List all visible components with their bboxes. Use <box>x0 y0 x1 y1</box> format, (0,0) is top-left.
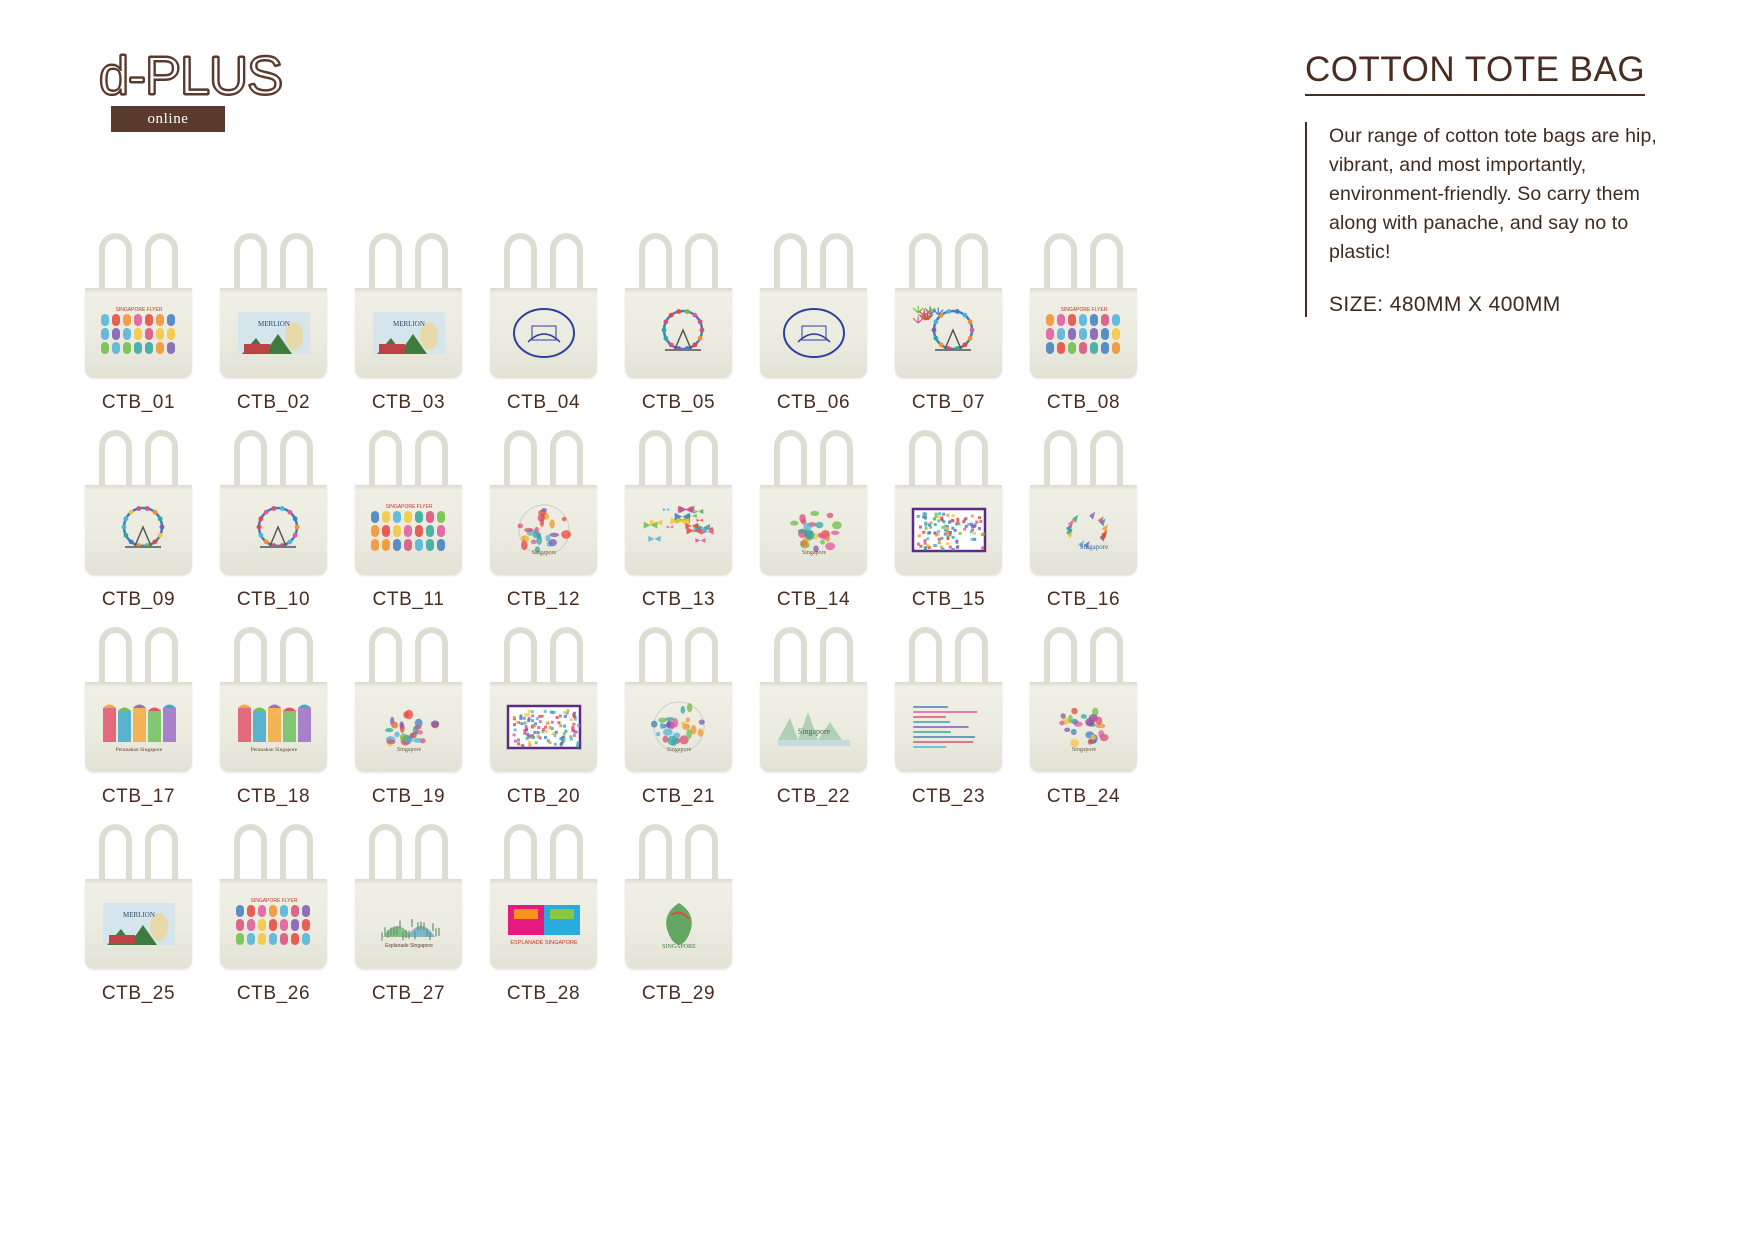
bag-body: Peranakan Singapore <box>85 682 192 772</box>
bag-body: SINGAPORE <box>625 879 732 969</box>
bag-handle-left <box>99 824 132 886</box>
bag-print-blue-oval-outline-landmark <box>772 304 856 362</box>
bag-print-peranakan-windows-trio: Peranakan Singapore <box>97 698 181 756</box>
size-spec: SIZE: 480MM X 400MM <box>1329 293 1705 317</box>
tote-bag-image[interactable] <box>882 228 1015 383</box>
product-card-ctb_12[interactable]: SingaporeCTB_12 <box>477 425 610 611</box>
bag-handle-right <box>415 824 448 886</box>
svg-text:Singapore: Singapore <box>1079 543 1107 551</box>
product-card-ctb_21[interactable]: SingaporeCTB_21 <box>612 622 745 808</box>
product-code-label: CTB_15 <box>912 589 985 611</box>
product-card-ctb_15[interactable]: CTB_15 <box>882 425 1015 611</box>
svg-text:Singapore: Singapore <box>666 747 691 753</box>
product-code-label: CTB_29 <box>642 983 715 1005</box>
svg-text:SINGAPORE FLYER: SINGAPORE FLYER <box>250 898 297 904</box>
product-card-ctb_04[interactable]: CTB_04 <box>477 228 610 414</box>
tote-bag-image[interactable]: Peranakan Singapore <box>207 622 340 777</box>
product-card-ctb_28[interactable]: ESPLANADE SINGAPORECTB_28 <box>477 819 610 1005</box>
tote-bag-image[interactable]: SINGAPORE FLYER <box>1017 228 1150 383</box>
product-row: SINGAPORE FLYERCTB_01MERLIONCTB_02MERLIO… <box>72 228 1232 414</box>
bag-body <box>760 288 867 378</box>
bag-handle-left <box>369 824 402 886</box>
tote-bag-image[interactable] <box>882 425 1015 580</box>
svg-text:Peranakan Singapore: Peranakan Singapore <box>115 747 162 753</box>
bag-print-esplanade-singapore-figure-grid: SINGAPORE FLYER <box>232 895 316 953</box>
product-code-label: CTB_22 <box>777 786 850 808</box>
bag-handle-left <box>774 627 807 689</box>
bag-print-singapore-flyer-icon-grid: SINGAPORE FLYER <box>1042 304 1126 362</box>
product-card-ctb_07[interactable]: CTB_07 <box>882 228 1015 414</box>
bag-body <box>220 485 327 575</box>
product-code-label: CTB_04 <box>507 392 580 414</box>
tote-bag-image[interactable]: Singapore <box>612 622 745 777</box>
svg-text:Singapore: Singapore <box>531 550 556 556</box>
bag-print-handwritten-hokkien-phrases <box>907 698 991 756</box>
bag-handle-left <box>99 627 132 689</box>
tote-bag-image[interactable] <box>747 228 880 383</box>
product-code-label: CTB_25 <box>102 983 175 1005</box>
product-card-ctb_17[interactable]: Peranakan SingaporeCTB_17 <box>72 622 205 808</box>
bag-body: MERLION <box>220 288 327 378</box>
bag-print-merlion-watercolour-trees: MERLION <box>367 304 451 362</box>
bag-body: SINGAPORE FLYER <box>85 288 192 378</box>
tote-bag-image[interactable] <box>612 228 745 383</box>
bag-handle-left <box>909 233 942 295</box>
product-card-ctb_16[interactable]: SingaporeCTB_16 <box>1017 425 1150 611</box>
tote-bag-image[interactable]: Peranakan Singapore <box>72 622 205 777</box>
product-code-label: CTB_07 <box>912 392 985 414</box>
tote-bag-image[interactable] <box>882 622 1015 777</box>
bag-body: MERLION <box>85 879 192 969</box>
bag-handle-right <box>280 233 313 295</box>
bag-body: SINGAPORE FLYER <box>220 879 327 969</box>
bag-handle-left <box>369 627 402 689</box>
bag-handle-left <box>1044 233 1077 295</box>
product-card-ctb_09[interactable]: CTB_09 <box>72 425 205 611</box>
product-code-label: CTB_08 <box>1047 392 1120 414</box>
product-card-ctb_29[interactable]: SINGAPORECTB_29 <box>612 819 745 1005</box>
product-row: MERLIONCTB_25SINGAPORE FLYERCTB_26Esplan… <box>72 819 1232 1005</box>
svg-text:MERLION: MERLION <box>258 320 290 328</box>
bag-body: ESPLANADE SINGAPORE <box>490 879 597 969</box>
page-title: COTTON TOTE BAG <box>1305 50 1645 96</box>
bag-handle-right <box>145 627 178 689</box>
bag-handle-right <box>415 430 448 492</box>
bag-handle-right <box>145 233 178 295</box>
bag-handle-left <box>234 824 267 886</box>
tote-bag-image[interactable]: MERLION <box>207 228 340 383</box>
bag-body: SINGAPORE FLYER <box>355 485 462 575</box>
bag-handle-right <box>820 430 853 492</box>
bag-print-singapore-flyer-sketch <box>97 501 181 559</box>
bag-print-merlion-with-skyline-blue-wash: MERLION <box>232 304 316 362</box>
bag-print-butterfly-swarm-gradient <box>637 501 721 559</box>
svg-text:SINGAPORE: SINGAPORE <box>662 944 696 950</box>
product-code-label: CTB_20 <box>507 786 580 808</box>
tote-bag-image[interactable] <box>477 622 610 777</box>
svg-text:Peranakan Singapore: Peranakan Singapore <box>250 747 297 753</box>
product-code-label: CTB_28 <box>507 983 580 1005</box>
bag-print-oval-typographic-singapore-collage <box>502 304 586 362</box>
product-card-ctb_03[interactable]: MERLIONCTB_03 <box>342 228 475 414</box>
bag-handle-right <box>955 627 988 689</box>
bag-print-circular-floral-wreath-pastel: Singapore <box>502 501 586 559</box>
bag-body: Esplanade Singapore <box>355 879 462 969</box>
product-code-label: CTB_16 <box>1047 589 1120 611</box>
product-code-label: CTB_02 <box>237 392 310 414</box>
tote-bag-image[interactable]: SINGAPORE <box>612 819 745 974</box>
bag-handle-right <box>1090 430 1123 492</box>
bag-body <box>490 288 597 378</box>
bag-handle-left <box>639 430 672 492</box>
bag-print-singapore-flyer-dot-grid: SINGAPORE FLYER <box>367 501 451 559</box>
tote-bag-image[interactable]: Singapore <box>747 622 880 777</box>
bag-handle-right <box>280 824 313 886</box>
bag-body: SINGAPORE FLYER <box>1030 288 1137 378</box>
bag-handle-left <box>234 627 267 689</box>
bag-body <box>490 682 597 772</box>
info-panel: COTTON TOTE BAG Our range of cotton tote… <box>1305 50 1705 317</box>
tote-bag-image[interactable] <box>477 228 610 383</box>
product-code-label: CTB_11 <box>373 589 445 611</box>
bag-print-grid-of-colored-capsule-icons: SINGAPORE FLYER <box>97 304 181 362</box>
product-card-ctb_19[interactable]: SingaporeCTB_19 <box>342 622 475 808</box>
bag-body: Singapore <box>355 682 462 772</box>
bag-print-purple-framed-mosaic-panel <box>907 501 991 559</box>
brand-logo: d-PLUS online <box>95 48 325 132</box>
svg-text:SINGAPORE FLYER: SINGAPORE FLYER <box>385 504 432 510</box>
product-card-ctb_10[interactable]: CTB_10 <box>207 425 340 611</box>
product-code-label: CTB_13 <box>642 589 715 611</box>
svg-text:Singapore: Singapore <box>396 747 421 753</box>
bag-print-esplanade-building-illustration: Esplanade Singapore <box>367 895 451 953</box>
product-code-label: CTB_01 <box>102 392 175 414</box>
tote-bag-image[interactable]: SINGAPORE FLYER <box>72 228 205 383</box>
product-code-label: CTB_26 <box>237 983 310 1005</box>
bag-handle-left <box>639 233 672 295</box>
bag-print-peranakan-shophouses-row: Peranakan Singapore <box>232 698 316 756</box>
bag-print-tropical-splash-singapore: Singapore <box>1042 501 1126 559</box>
product-card-ctb_08[interactable]: SINGAPORE FLYERCTB_08 <box>1017 228 1150 414</box>
svg-text:MERLION: MERLION <box>393 320 425 328</box>
bag-body: Singapore <box>760 682 867 772</box>
product-row: CTB_09CTB_10SINGAPORE FLYERCTB_11Singapo… <box>72 425 1232 611</box>
bag-print-the-walking-singapore-merlion: MERLION <box>97 895 181 953</box>
bag-handle-left <box>504 233 537 295</box>
svg-text:Esplanade Singapore: Esplanade Singapore <box>385 943 433 949</box>
bag-handle-right <box>820 233 853 295</box>
product-card-ctb_22[interactable]: SingaporeCTB_22 <box>747 622 880 808</box>
bag-handle-left <box>639 824 672 886</box>
svg-text:Singapore: Singapore <box>1071 747 1096 753</box>
bag-print-peranakan-tile-pattern-panel <box>502 698 586 756</box>
product-code-label: CTB_06 <box>777 392 850 414</box>
product-card-ctb_23[interactable]: CTB_23 <box>882 622 1015 808</box>
bag-handle-left <box>1044 627 1077 689</box>
svg-text:SINGAPORE FLYER: SINGAPORE FLYER <box>115 307 162 313</box>
product-card-ctb_20[interactable]: CTB_20 <box>477 622 610 808</box>
bag-handle-right <box>550 430 583 492</box>
bag-body: Singapore <box>1030 485 1137 575</box>
tote-bag-image[interactable]: Singapore <box>477 425 610 580</box>
bag-handle-right <box>1090 233 1123 295</box>
bag-handle-right <box>685 627 718 689</box>
bag-body: Singapore <box>625 682 732 772</box>
bag-handle-right <box>415 627 448 689</box>
tote-bag-image[interactable]: MERLION <box>72 819 205 974</box>
bag-body: Singapore <box>760 485 867 575</box>
bag-handle-right <box>955 233 988 295</box>
info-body-block: Our range of cotton tote bags are hip, v… <box>1305 122 1705 317</box>
bag-body: MERLION <box>355 288 462 378</box>
bag-handle-left <box>774 233 807 295</box>
product-card-ctb_18[interactable]: Peranakan SingaporeCTB_18 <box>207 622 340 808</box>
tote-bag-image[interactable]: Singapore <box>342 622 475 777</box>
bag-handle-left <box>99 430 132 492</box>
product-code-label: CTB_19 <box>372 786 445 808</box>
product-card-ctb_11[interactable]: SINGAPORE FLYERCTB_11 <box>342 425 475 611</box>
tote-bag-image[interactable] <box>207 425 340 580</box>
bag-print-esplanade-singapore-colour-blocks: ESPLANADE SINGAPORE <box>502 895 586 953</box>
bag-handle-right <box>1090 627 1123 689</box>
bag-body <box>895 682 1002 772</box>
bag-handle-right <box>550 233 583 295</box>
product-code-label: CTB_23 <box>912 786 985 808</box>
bag-print-green-singapore-emblem: SINGAPORE <box>637 895 721 953</box>
product-code-label: CTB_10 <box>237 589 310 611</box>
product-card-ctb_26[interactable]: SINGAPORE FLYERCTB_26 <box>207 819 340 1005</box>
bag-handle-left <box>504 627 537 689</box>
tote-bag-image[interactable]: Singapore <box>1017 622 1150 777</box>
product-code-label: CTB_09 <box>102 589 175 611</box>
bag-handle-right <box>415 233 448 295</box>
bag-handle-left <box>504 824 537 886</box>
bag-body <box>85 485 192 575</box>
product-code-label: CTB_17 <box>102 786 175 808</box>
bag-body: Singapore <box>490 485 597 575</box>
bag-print-peranakan-floral-bouquet: Singapore <box>367 698 451 756</box>
tote-bag-image[interactable]: SINGAPORE FLYER <box>342 425 475 580</box>
product-code-label: CTB_14 <box>777 589 850 611</box>
product-row: Peranakan SingaporeCTB_17Peranakan Singa… <box>72 622 1232 808</box>
product-card-ctb_25[interactable]: MERLIONCTB_25 <box>72 819 205 1005</box>
svg-text:SINGAPORE FLYER: SINGAPORE FLYER <box>1060 307 1107 313</box>
brand-tagline-badge: online <box>111 106 225 132</box>
product-code-label: CTB_12 <box>507 589 580 611</box>
bag-handle-right <box>820 627 853 689</box>
svg-text:MERLION: MERLION <box>123 911 155 919</box>
tote-bag-image[interactable]: SINGAPORE FLYER <box>207 819 340 974</box>
product-code-label: CTB_27 <box>372 983 445 1005</box>
bag-handle-left <box>504 430 537 492</box>
product-card-ctb_05[interactable]: CTB_05 <box>612 228 745 414</box>
bag-handle-left <box>909 627 942 689</box>
bag-print-watercolour-skyline-singapore: Singapore <box>772 698 856 756</box>
bag-handle-right <box>280 430 313 492</box>
bag-handle-right <box>145 824 178 886</box>
bag-handle-right <box>280 627 313 689</box>
bag-handle-right <box>685 430 718 492</box>
bag-print-floral-wreath-singapore-script: Singapore <box>772 501 856 559</box>
bag-handle-left <box>774 430 807 492</box>
bag-body: Peranakan Singapore <box>220 682 327 772</box>
bag-handle-left <box>369 430 402 492</box>
bag-handle-left <box>234 430 267 492</box>
tote-bag-image[interactable]: Singapore <box>747 425 880 580</box>
brand-wordmark: d-PLUS <box>95 48 325 104</box>
bag-handle-left <box>369 233 402 295</box>
bag-body <box>625 288 732 378</box>
bag-handle-left <box>234 233 267 295</box>
bag-body <box>625 485 732 575</box>
bag-print-botanical-singapore-leaves: Singapore <box>1042 698 1126 756</box>
bag-body <box>895 288 1002 378</box>
product-code-label: CTB_05 <box>642 392 715 414</box>
product-card-ctb_27[interactable]: Esplanade SingaporeCTB_27 <box>342 819 475 1005</box>
product-code-label: CTB_03 <box>372 392 445 414</box>
tote-bag-image[interactable]: ESPLANADE SINGAPORE <box>477 819 610 974</box>
product-card-ctb_24[interactable]: SingaporeCTB_24 <box>1017 622 1150 808</box>
bag-print-four-panel-pop-art-flyer <box>232 501 316 559</box>
catalogue-page: d-PLUS online COTTON TOTE BAG Our range … <box>0 0 1754 1241</box>
product-card-ctb_02[interactable]: MERLIONCTB_02 <box>207 228 340 414</box>
tote-bag-image[interactable] <box>72 425 205 580</box>
bag-handle-right <box>955 430 988 492</box>
bag-print-fireworks-flyer-rainbow-wheel <box>907 304 991 362</box>
svg-text:Singapore: Singapore <box>797 727 830 736</box>
product-code-label: CTB_24 <box>1047 786 1120 808</box>
bag-handle-right <box>550 627 583 689</box>
bag-handle-right <box>685 233 718 295</box>
product-grid: SINGAPORE FLYERCTB_01MERLIONCTB_02MERLIO… <box>72 228 1232 1016</box>
product-code-label: CTB_21 <box>642 786 715 808</box>
svg-text:ESPLANADE SINGAPORE: ESPLANADE SINGAPORE <box>510 940 578 946</box>
tote-bag-image[interactable]: Singapore <box>1017 425 1150 580</box>
bag-print-circular-orchid-bouquet: Singapore <box>637 698 721 756</box>
product-card-ctb_06[interactable]: CTB_06 <box>747 228 880 414</box>
bag-handle-right <box>685 824 718 886</box>
svg-text:Singapore: Singapore <box>801 550 826 556</box>
bag-print-singapore-flyer-colour-illustration <box>637 304 721 362</box>
bag-handle-left <box>1044 430 1077 492</box>
info-description: Our range of cotton tote bags are hip, v… <box>1329 122 1669 267</box>
product-card-ctb_14[interactable]: SingaporeCTB_14 <box>747 425 880 611</box>
bag-handle-left <box>909 430 942 492</box>
bag-handle-left <box>99 233 132 295</box>
bag-handle-right <box>550 824 583 886</box>
product-card-ctb_01[interactable]: SINGAPORE FLYERCTB_01 <box>72 228 205 414</box>
tote-bag-image[interactable] <box>612 425 745 580</box>
bag-handle-left <box>639 627 672 689</box>
product-card-ctb_13[interactable]: CTB_13 <box>612 425 745 611</box>
brand-tagline-label: online <box>147 111 188 128</box>
bag-body: Singapore <box>1030 682 1137 772</box>
tote-bag-image[interactable]: Esplanade Singapore <box>342 819 475 974</box>
product-code-label: CTB_18 <box>237 786 310 808</box>
tote-bag-image[interactable]: MERLION <box>342 228 475 383</box>
bag-body <box>895 485 1002 575</box>
bag-handle-right <box>145 430 178 492</box>
